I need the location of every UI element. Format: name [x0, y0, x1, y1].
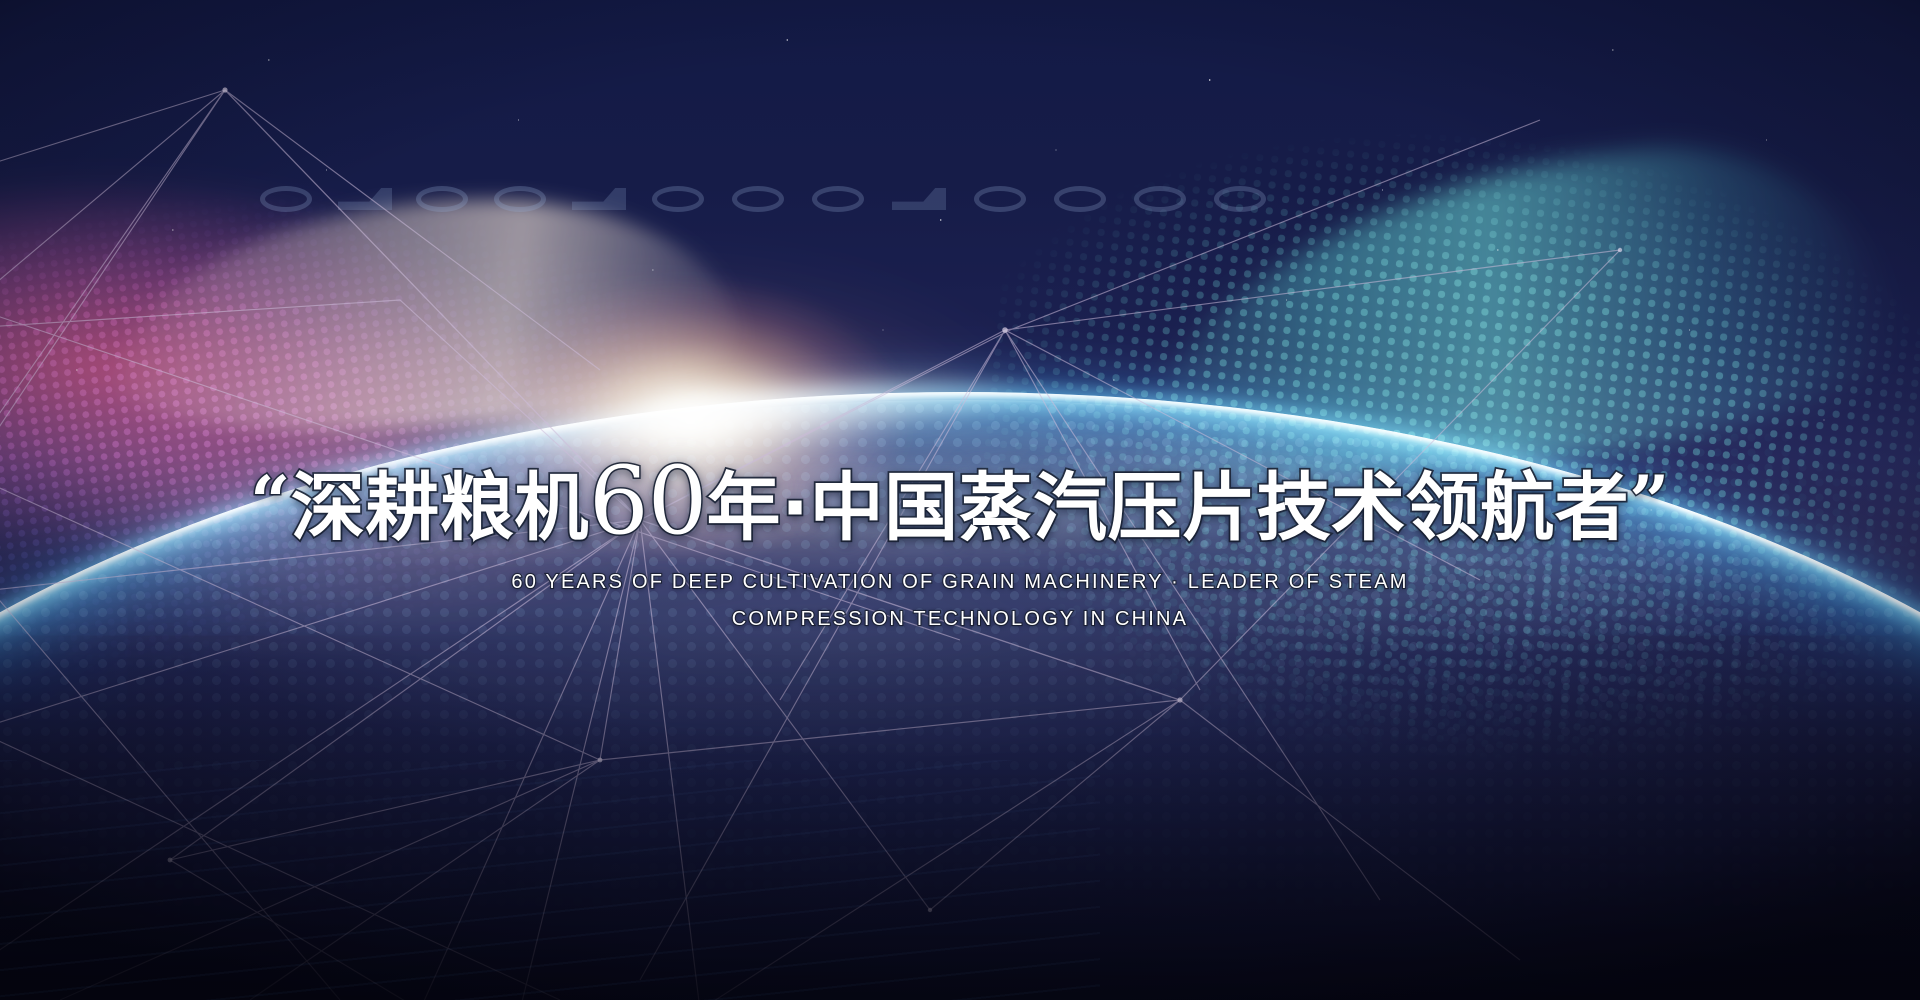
headline-part-b: 年·中国蒸汽压片技术领航者	[707, 465, 1630, 551]
headline-part-a: 深耕粮机	[291, 465, 589, 551]
headline-number-60: 60	[589, 447, 707, 556]
ghost-ring-icon	[652, 186, 704, 212]
ghost-ring-icon	[1134, 186, 1186, 212]
ghost-ring-icon	[732, 186, 784, 212]
banner-text-block: “深耕粮机60年·中国蒸汽压片技术领航者” 60 YEARS OF DEEP C…	[0, 455, 1920, 631]
banner-canvas: “深耕粮机60年·中国蒸汽压片技术领航者” 60 YEARS OF DEEP C…	[0, 0, 1920, 1000]
red-halftone-dot-wave	[0, 67, 950, 752]
ghost-ring-icon	[494, 186, 546, 212]
close-quote-mark: ”	[1629, 460, 1670, 543]
ghost-ring-bar-icon	[338, 188, 392, 210]
ghost-ring-bar-icon	[892, 188, 946, 210]
ghost-ring-icon	[416, 186, 468, 212]
banner-subtitle-line-2: COMPRESSION TECHNOLOGY IN CHINA	[0, 608, 1920, 631]
ghost-ring-icon	[812, 186, 864, 212]
teal-wave-ridge-highlight	[1116, 126, 1903, 504]
scanline-overlay	[0, 760, 1100, 1000]
ghost-ring-icon	[974, 186, 1026, 212]
banner-headline: “深耕粮机60年·中国蒸汽压片技术领航者”	[0, 455, 1920, 549]
ghost-ring-band	[240, 178, 1280, 228]
banner-subtitle-line-1: 60 YEARS OF DEEP CULTIVATION OF GRAIN MA…	[0, 571, 1920, 594]
ghost-ring-icon	[1054, 186, 1106, 212]
ghost-ring-icon	[260, 186, 312, 212]
ghost-ring-icon	[1214, 186, 1266, 212]
ghost-ring-bar-icon	[572, 188, 626, 210]
red-wave-ridge-highlight	[120, 200, 740, 430]
open-quote-mark: “	[250, 460, 291, 543]
